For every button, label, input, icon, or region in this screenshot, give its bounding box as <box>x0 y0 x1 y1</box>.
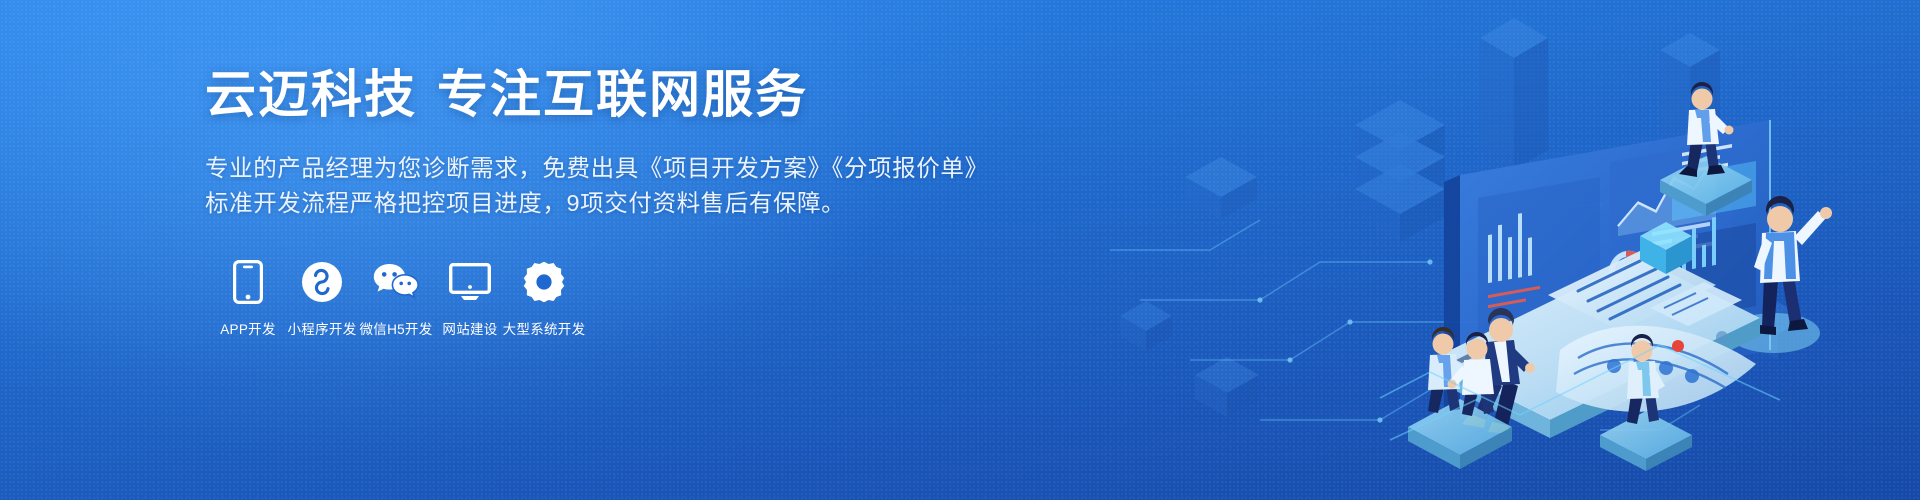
service-label: 微信H5开发 <box>359 318 432 338</box>
gear-icon <box>523 260 565 304</box>
platform-lower-left <box>1408 399 1512 469</box>
floating-widget <box>1650 282 1742 326</box>
ground-guide <box>1380 345 1780 440</box>
mini-program-icon <box>301 260 343 304</box>
banner-subtitle: 专业的产品经理为您诊断需求，免费出具《项目开发方案》《分项报价单》 标准开发流程… <box>205 151 965 222</box>
subtitle-line-2: 标准开发流程严格把控项目进度，9项交付资料售后有保障。 <box>205 186 965 222</box>
platform-lower-right <box>1600 411 1692 471</box>
service-item-system[interactable]: 大型系统开发 <box>507 260 581 338</box>
curved-data-ribbon <box>1556 326 1756 412</box>
service-label: 小程序开发 <box>288 318 357 338</box>
subtitle-line-1: 专业的产品经理为您诊断需求，免费出具《项目开发方案》《分项报价单》 <box>205 151 965 187</box>
service-label: 网站建设 <box>442 318 497 338</box>
headline-brand: 云迈科技 <box>205 66 417 123</box>
cyan-cube <box>1640 222 1692 274</box>
service-label: APP开发 <box>220 318 276 338</box>
background-blocks <box>1120 18 1806 417</box>
page-title: 云迈科技专注互联网服务 <box>205 66 965 125</box>
wechat-icon <box>373 260 419 304</box>
service-list: APP开发 小程序开发 <box>211 260 965 338</box>
person-upper-right <box>1679 82 1734 177</box>
banner-content: 云迈科技专注互联网服务 专业的产品经理为您诊断需求，免费出具《项目开发方案》《分… <box>205 66 965 338</box>
service-label: 大型系统开发 <box>503 318 586 338</box>
service-item-website[interactable]: 网站建设 <box>433 260 507 338</box>
person-seated <box>1462 308 1535 434</box>
monitor-icon <box>449 260 491 304</box>
person-lower-left-b <box>1448 332 1495 416</box>
person-lower-right <box>1627 334 1665 424</box>
dashboard-screen <box>1444 120 1770 420</box>
hero-illustration <box>960 0 1920 500</box>
service-item-miniprogram[interactable]: 小程序开发 <box>285 260 359 338</box>
service-item-wechat[interactable]: 微信H5开发 <box>359 260 433 338</box>
data-sheet <box>1548 249 1716 331</box>
platform-upper-right <box>1660 156 1752 216</box>
phone-platform <box>1430 258 1760 438</box>
mobile-phone-icon <box>233 260 263 304</box>
person-presenter <box>1728 196 1832 353</box>
service-item-app[interactable]: APP开发 <box>211 260 285 338</box>
circuit-lines <box>1110 175 1700 430</box>
hero-banner: 云迈科技专注互联网服务 专业的产品经理为您诊断需求，免费出具《项目开发方案》《分… <box>0 0 1920 500</box>
person-lower-left-a <box>1428 327 1468 413</box>
headline-tagline: 专注互联网服务 <box>437 66 808 123</box>
